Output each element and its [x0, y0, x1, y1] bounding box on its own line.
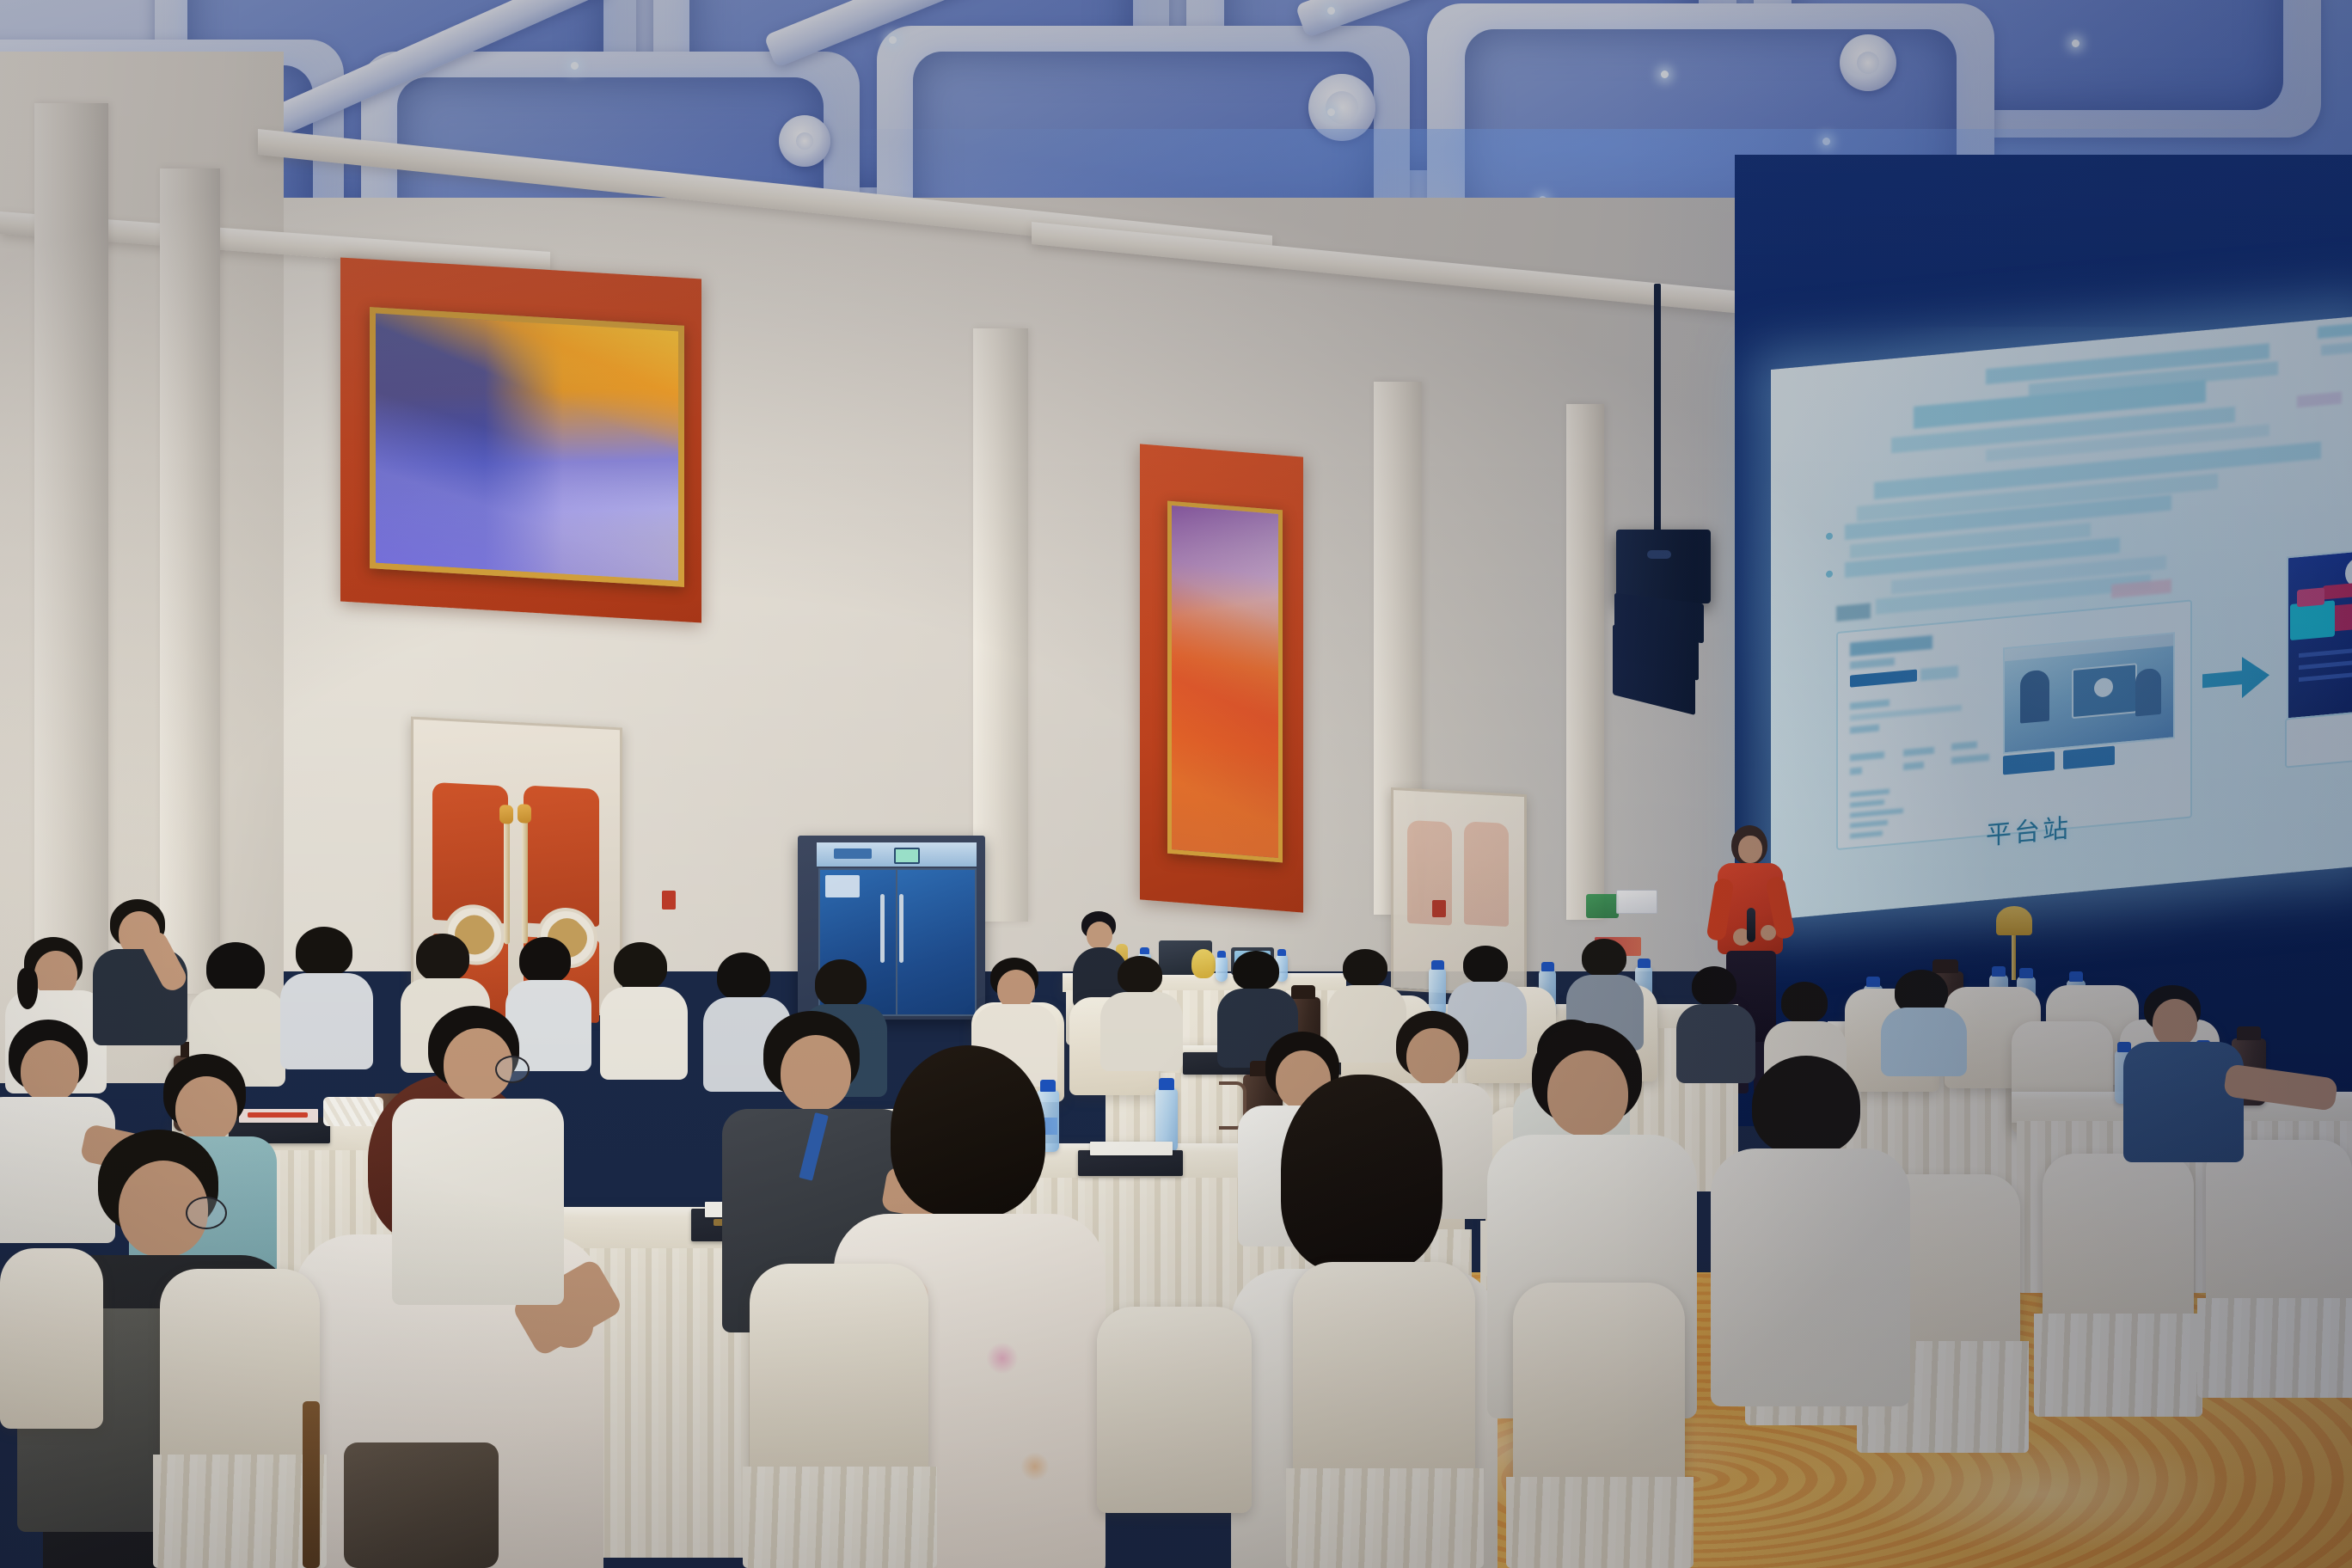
banquet-chair[interactable] [1097, 1307, 1252, 1513]
wall-notice-sign [1616, 890, 1657, 914]
wall-switch-plate[interactable] [662, 891, 676, 910]
banquet-chair[interactable] [1293, 1262, 1475, 1480]
printed-agenda-stripe [248, 1112, 308, 1118]
hand [547, 1305, 593, 1348]
banquet-chair[interactable] [2206, 1140, 2352, 1308]
banquet-chair[interactable] [160, 1269, 320, 1467]
banquet-chair[interactable] [0, 1248, 103, 1429]
ceiling-rosette [1840, 34, 1896, 91]
banquet-chair[interactable] [1513, 1283, 1685, 1489]
table-number-stand [1996, 906, 2032, 935]
ceiling-rosette [779, 115, 830, 167]
painting-frame-landscape [370, 307, 684, 587]
conference-room-photo: 平台站 [0, 0, 2352, 1568]
slide-bullet [1826, 532, 1833, 540]
fridge-door-right[interactable] [896, 868, 977, 1016]
projection-screen: 平台站 [1771, 315, 2352, 920]
slide-bullet [1826, 570, 1833, 578]
fridge-notice-sticker [825, 875, 860, 897]
slide-cta-button[interactable] [2063, 746, 2115, 769]
ceiling-rosette [1308, 74, 1375, 141]
door-handle[interactable] [504, 815, 510, 944]
wall-switch-plate[interactable] [1432, 900, 1446, 917]
handheld-microphone-icon [1747, 908, 1755, 942]
wall-pilaster [34, 103, 108, 997]
fridge-handle[interactable] [899, 894, 903, 963]
wall-pilaster [160, 168, 220, 994]
slide-caption: 平台站 [1986, 806, 2071, 852]
eyeglasses-icon [186, 1197, 227, 1229]
fridge-handle[interactable] [880, 894, 885, 963]
chair-wood-frame [303, 1401, 320, 1568]
handbag[interactable] [344, 1442, 499, 1568]
banquet-chair[interactable] [2043, 1154, 2194, 1326]
slide-thumbnail-app [2287, 545, 2352, 720]
mineral-water-bottle[interactable] [1429, 968, 1446, 1016]
fridge-brand-label [834, 848, 872, 859]
wall-pilaster [973, 328, 1028, 922]
banquet-chair[interactable] [750, 1264, 928, 1479]
painting-frame-vertical [1167, 501, 1283, 863]
slide-thumbnail-office [2003, 632, 2175, 754]
eyeglasses-icon [495, 1056, 530, 1083]
folded-napkin [323, 1097, 383, 1126]
fridge-display-panel [894, 848, 920, 864]
exit-sign-icon [1586, 894, 1619, 918]
right-arrow-icon [2202, 651, 2271, 709]
wall-pilaster [1566, 404, 1604, 920]
slide-cta-button[interactable] [2003, 751, 2055, 775]
desk-lamp-icon [1191, 949, 1216, 978]
door-handle[interactable] [522, 814, 528, 943]
